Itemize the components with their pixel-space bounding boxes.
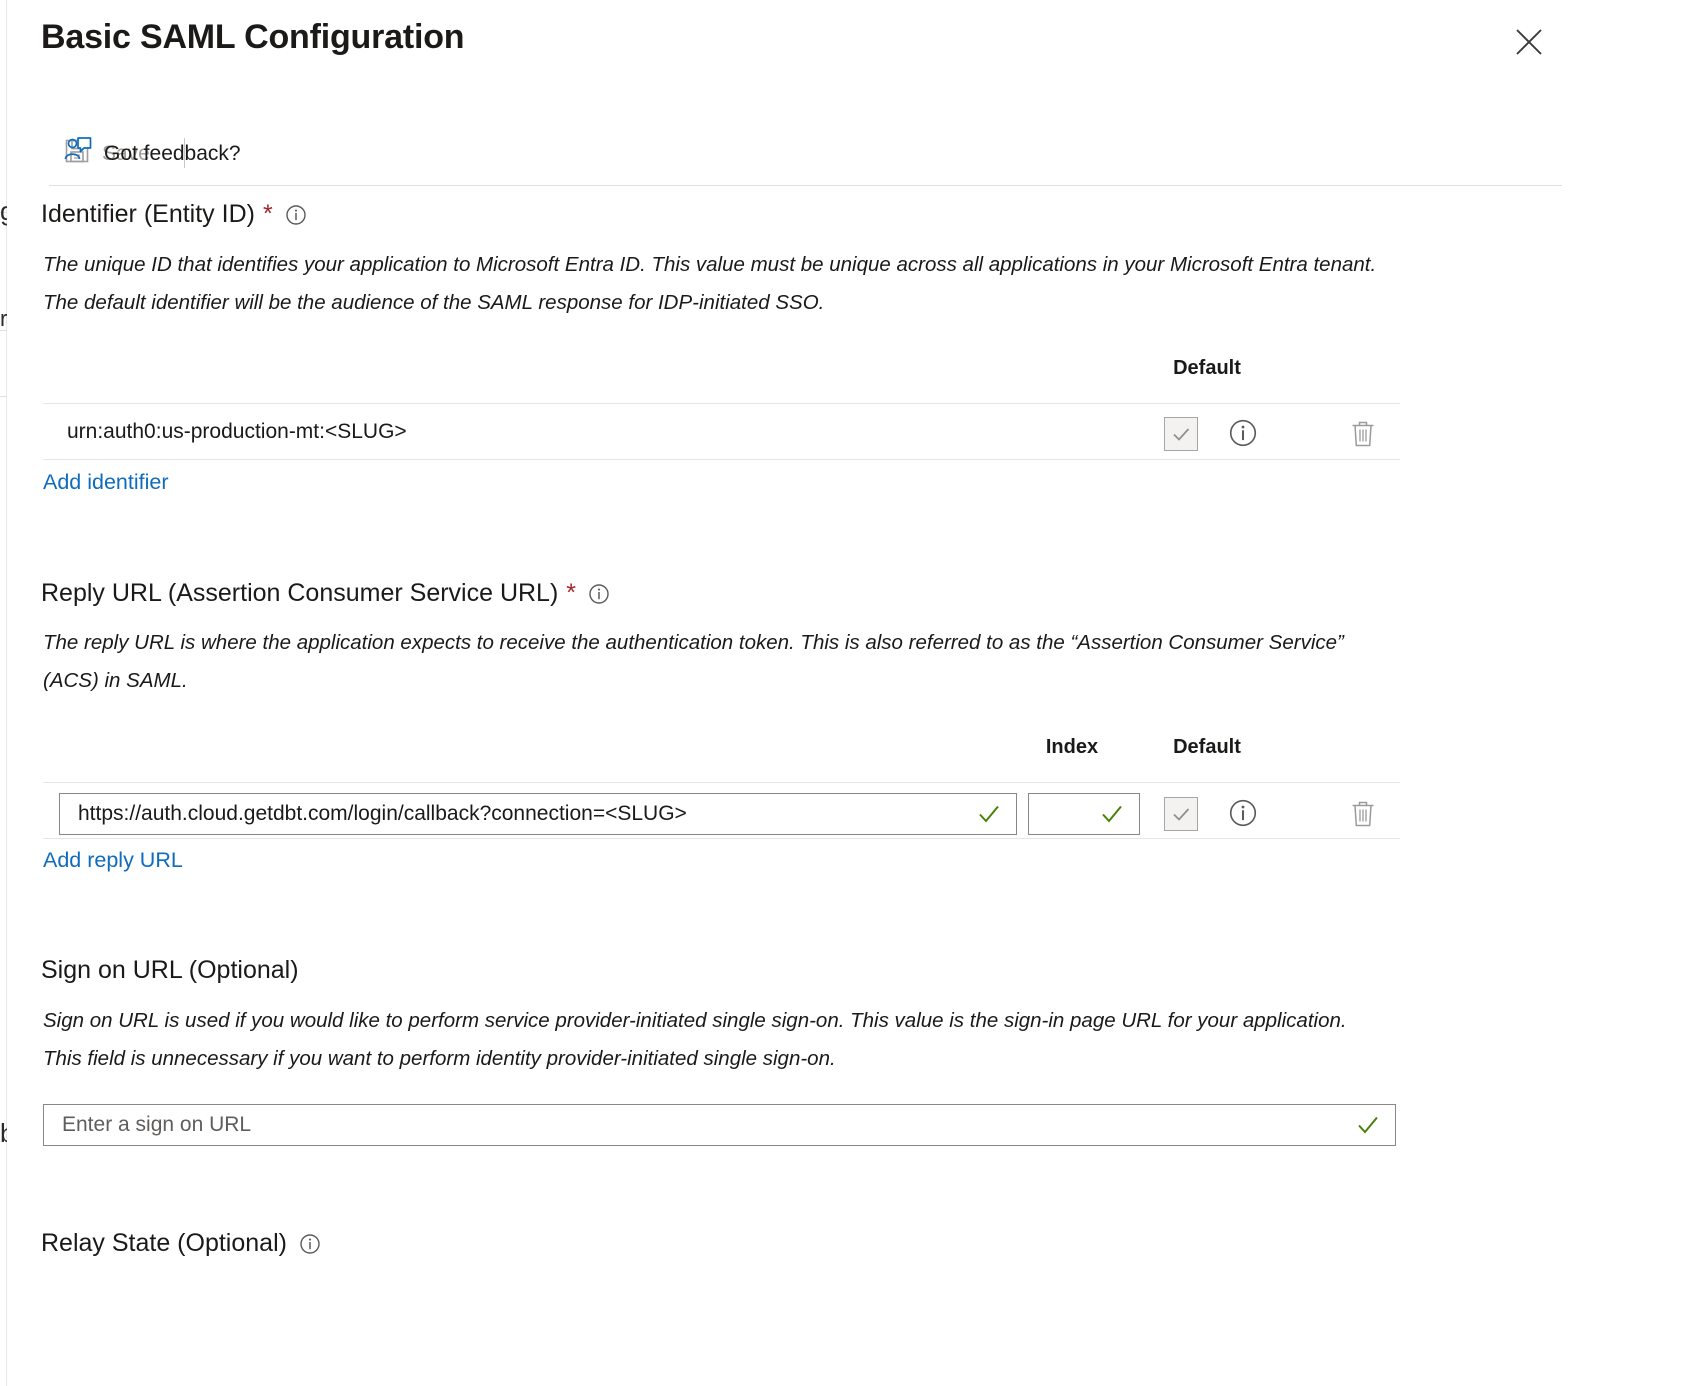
reply-url-section-title: Reply URL (Assertion Consumer Service UR… <box>41 579 610 608</box>
got-feedback-button[interactable]: Got feedback? <box>55 131 249 175</box>
background-divider <box>0 396 6 397</box>
reply-url-field[interactable] <box>59 793 1017 835</box>
background-page-sliver: g r b <box>0 0 7 1386</box>
identifier-value: urn:auth0:us-production-mt:<SLUG> <box>67 420 407 444</box>
reply-url-row-top-rule <box>43 782 1400 783</box>
identifier-column-default: Default <box>1117 357 1297 380</box>
command-bar-divider <box>49 185 1562 186</box>
sign-on-url-section-title: Sign on URL (Optional) <box>41 956 299 985</box>
feedback-person-icon <box>63 135 93 171</box>
reply-url-default-checkbox[interactable] <box>1164 797 1198 831</box>
page-title: Basic SAML Configuration <box>41 18 464 57</box>
sign-on-url-description: Sign on URL is used if you would like to… <box>43 1002 1368 1078</box>
reply-url-input[interactable] <box>78 802 966 826</box>
reply-url-row-bottom-rule <box>43 838 1400 839</box>
background-glyph: g <box>0 196 7 227</box>
sign-on-url-input[interactable] <box>62 1113 1345 1137</box>
blade-header: Basic SAML Configuration <box>7 0 1692 100</box>
relay-state-section-title: Relay State (Optional) <box>41 1229 321 1258</box>
background-glyph: b <box>0 1118 7 1149</box>
reply-url-title-text: Reply URL (Assertion Consumer Service UR… <box>41 579 558 608</box>
identifier-section-title: Identifier (Entity ID) * <box>41 200 307 229</box>
add-reply-url-link[interactable]: Add reply URL <box>43 848 183 873</box>
reply-url-index-field[interactable] <box>1028 793 1140 835</box>
got-feedback-label: Got feedback? <box>104 143 241 164</box>
identifier-title-text: Identifier (Entity ID) <box>41 200 255 229</box>
identifier-delete-button[interactable] <box>1346 416 1380 452</box>
identifier-description: The unique ID that identifies your appli… <box>43 246 1388 322</box>
sign-on-url-valid-icon <box>1355 1112 1381 1138</box>
close-icon[interactable] <box>1509 22 1549 62</box>
command-bar: Save Got feedback? <box>7 122 1692 184</box>
trash-icon <box>1349 419 1377 449</box>
relay-state-info-icon[interactable] <box>299 1233 321 1255</box>
identifier-row-bottom-rule <box>43 459 1400 460</box>
reply-url-row-info-icon[interactable] <box>1228 798 1258 828</box>
identifier-required-marker: * <box>263 202 273 227</box>
reply-url-column-default: Default <box>1117 736 1297 759</box>
reply-url-index-input[interactable] <box>1039 802 1089 826</box>
identifier-info-icon[interactable] <box>285 204 307 226</box>
relay-state-title-text: Relay State (Optional) <box>41 1229 287 1258</box>
reply-url-index-valid-icon <box>1099 801 1125 827</box>
identifier-row-info-icon[interactable] <box>1228 418 1258 448</box>
reply-url-delete-button[interactable] <box>1346 796 1380 832</box>
trash-icon <box>1349 799 1377 829</box>
identifier-default-checkbox[interactable] <box>1164 417 1198 451</box>
relay-state-description-clipped <box>43 1376 1383 1386</box>
reply-url-required-marker: * <box>566 581 576 606</box>
add-identifier-link[interactable]: Add identifier <box>43 470 169 495</box>
sign-on-url-field[interactable] <box>43 1104 1396 1146</box>
reply-url-info-icon[interactable] <box>588 583 610 605</box>
background-glyph: r <box>0 306 7 332</box>
reply-url-valid-icon <box>976 801 1002 827</box>
sign-on-url-title-text: Sign on URL (Optional) <box>41 956 299 985</box>
reply-url-description: The reply URL is where the application e… <box>43 624 1373 700</box>
basic-saml-configuration-blade: Basic SAML Configuration Save <box>7 0 1692 1386</box>
identifier-row-top-rule <box>43 403 1400 404</box>
